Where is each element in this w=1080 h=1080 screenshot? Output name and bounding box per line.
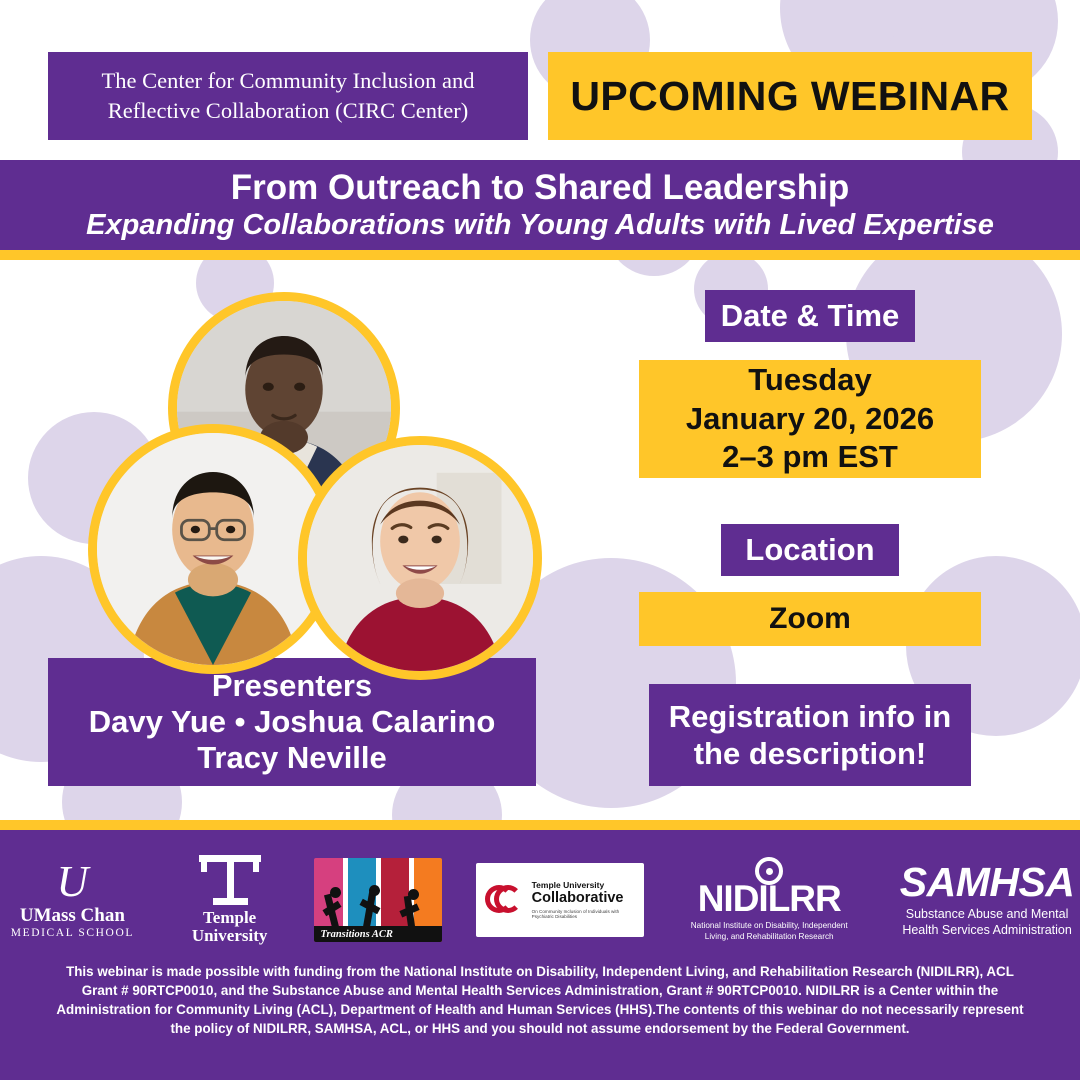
collaborative-c-icon [485,880,525,920]
umass-logo-line-1: UMass Chan [20,905,125,927]
temple-collaborative-logo: Temple University Collaborative On Commu… [476,863,645,937]
umass-chan-logo: U UMass Chan MEDICAL SCHOOL [0,861,145,940]
date-time-value: Tuesday January 20, 2026 2–3 pm EST [639,360,981,478]
funding-disclaimer: This webinar is made possible with fundi… [52,962,1028,1038]
registration-note: Registration info in the description! [649,684,971,786]
temple-t-icon [199,855,261,905]
collaborative-line-1: Temple University [532,881,636,891]
date-time-label: Date & Time [705,290,915,342]
registration-line-2: the description! [694,735,927,772]
event-details: Date & Time Tuesday January 20, 2026 2–3… [600,290,1020,786]
temple-university-logo: Temple University [179,855,281,945]
location-value: Zoom [639,592,981,646]
presenter-photo-right [298,436,542,680]
registration-line-1: Registration info in [669,698,951,735]
divider-bottom [0,820,1080,830]
date-full: January 20, 2026 [686,400,934,439]
upcoming-webinar-badge: UPCOMING WEBINAR [548,52,1032,140]
transitions-acr-logo: Transitions ACR [314,858,441,942]
nidilrr-tagline: National Institute on Disability, Indepe… [678,921,860,942]
headshot-tracy-neville [307,445,533,671]
samhsa-logo: SAMHSA Substance Abuse and Mental Health… [894,862,1080,938]
temple-logo-line-2: University [192,927,268,945]
temple-logo-line-1: Temple [203,909,256,927]
nidilrr-wordmark: NIDILRR [698,880,841,917]
samhsa-tagline: Substance Abuse and Mental Health Servic… [894,907,1080,938]
headshot-davy-yue [97,433,329,665]
umass-logo-line-2: MEDICAL SCHOOL [11,927,134,939]
webinar-poster: The Center for Community Inclusion and R… [0,0,1080,1080]
date-day: Tuesday [748,361,871,400]
samhsa-wordmark: SAMHSA [900,862,1075,903]
transitions-acr-caption: Transitions ACR [320,929,392,940]
date-time: 2–3 pm EST [722,438,898,477]
footer: U UMass Chan MEDICAL SCHOOL Temple Unive… [0,830,1080,1080]
collaborative-line-3: On Community Inclusion of Individuals wi… [532,909,636,920]
location-label: Location [721,524,899,576]
umass-monogram-icon: U [56,861,88,903]
nidilrr-logo: NIDILRR National Institute on Disability… [678,857,860,942]
collaborative-line-2: Collaborative [532,890,636,907]
presenters-line-2: Tracy Neville [197,740,387,776]
funder-logos: U UMass Chan MEDICAL SCHOOL Temple Unive… [0,842,1080,958]
presenters-line-1: Davy Yue • Joshua Calarino [89,704,496,740]
presenter-photos [0,0,620,700]
